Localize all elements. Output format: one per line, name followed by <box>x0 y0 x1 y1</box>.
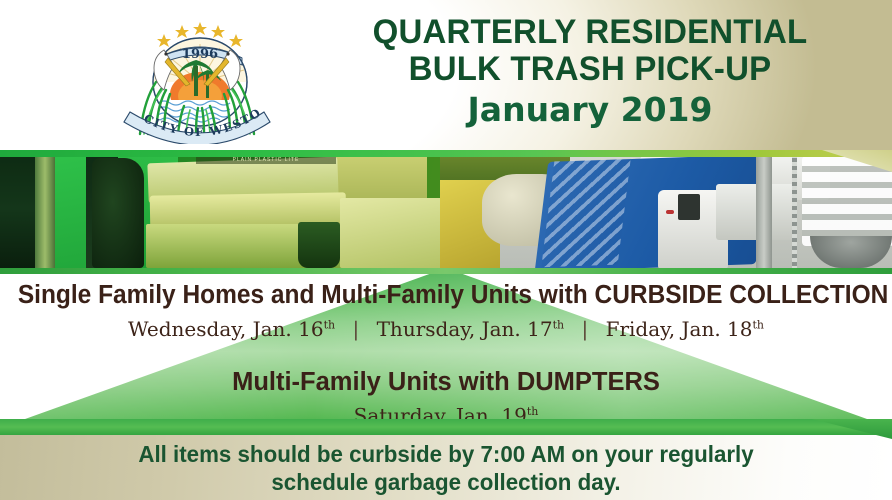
date-separator: | <box>570 316 599 342</box>
curbside-date-3: Friday, Jan. 18th <box>606 317 764 341</box>
ordinal-suffix: th <box>324 318 336 331</box>
photo-shape <box>810 236 892 268</box>
schedule-text-block: Single Family Homes and Multi-Family Uni… <box>0 268 892 428</box>
photo-left-bulk-items: PLAIN PLASTIC LITE <box>0 150 470 268</box>
photo-box-label: PLAIN PLASTIC LITE <box>196 156 336 164</box>
title-line-1: QUARTERLY RESIDENTIAL <box>309 14 872 51</box>
header-title-block: QUARTERLY RESIDENTIAL BULK TRASH PICK-UP… <box>300 14 880 132</box>
photo-right-recycling-bin <box>440 150 892 268</box>
footer-line-1: All items should be curbside by 7:00 AM … <box>13 440 878 468</box>
bulk-trash-flyer: 1996 <box>0 0 892 500</box>
seal-year: 1996 <box>182 47 218 62</box>
date-separator: | <box>341 316 370 342</box>
photo-band: PLAIN PLASTIC LITE <box>0 150 892 268</box>
photo-top-green-strip <box>0 150 892 157</box>
city-of-weston-seal-icon: 1996 <box>108 8 286 144</box>
photo-shape <box>756 150 772 268</box>
photo-shape <box>0 150 35 268</box>
photo-shape <box>802 156 892 246</box>
ordinal-suffix: th <box>553 318 565 331</box>
ordinal-suffix: th <box>527 405 539 418</box>
footer-green-band <box>0 419 892 435</box>
curbside-date-2: Thursday, Jan. 17th <box>377 317 565 341</box>
footer-line-2: schedule garbage collection day. <box>13 468 878 496</box>
curbside-heading: Single Family Homes and Multi-Family Uni… <box>18 280 874 310</box>
title-line-2: BULK TRASH PICK-UP <box>309 51 872 88</box>
schedule-section: Single Family Homes and Multi-Family Uni… <box>0 268 892 428</box>
photo-shape <box>792 150 797 268</box>
photo-shape <box>678 194 700 220</box>
photo-shape <box>716 184 794 240</box>
dumpsters-heading: Multi-Family Units with DUMPTERS <box>0 367 892 397</box>
curbside-dates: Wednesday, Jan. 16th | Thursday, Jan. 17… <box>0 312 892 342</box>
title-month: January 2019 <box>300 88 880 132</box>
footer-note: All items should be curbside by 7:00 AM … <box>0 435 892 500</box>
curbside-date-1: Wednesday, Jan. 16th <box>128 317 335 341</box>
photo-shape <box>298 222 340 268</box>
photo-shape <box>92 158 144 268</box>
photo-shape <box>541 159 630 268</box>
photo-shape <box>35 150 55 268</box>
photo-shape <box>666 210 674 214</box>
header-banner: 1996 <box>0 0 892 150</box>
ordinal-suffix: th <box>752 318 764 331</box>
